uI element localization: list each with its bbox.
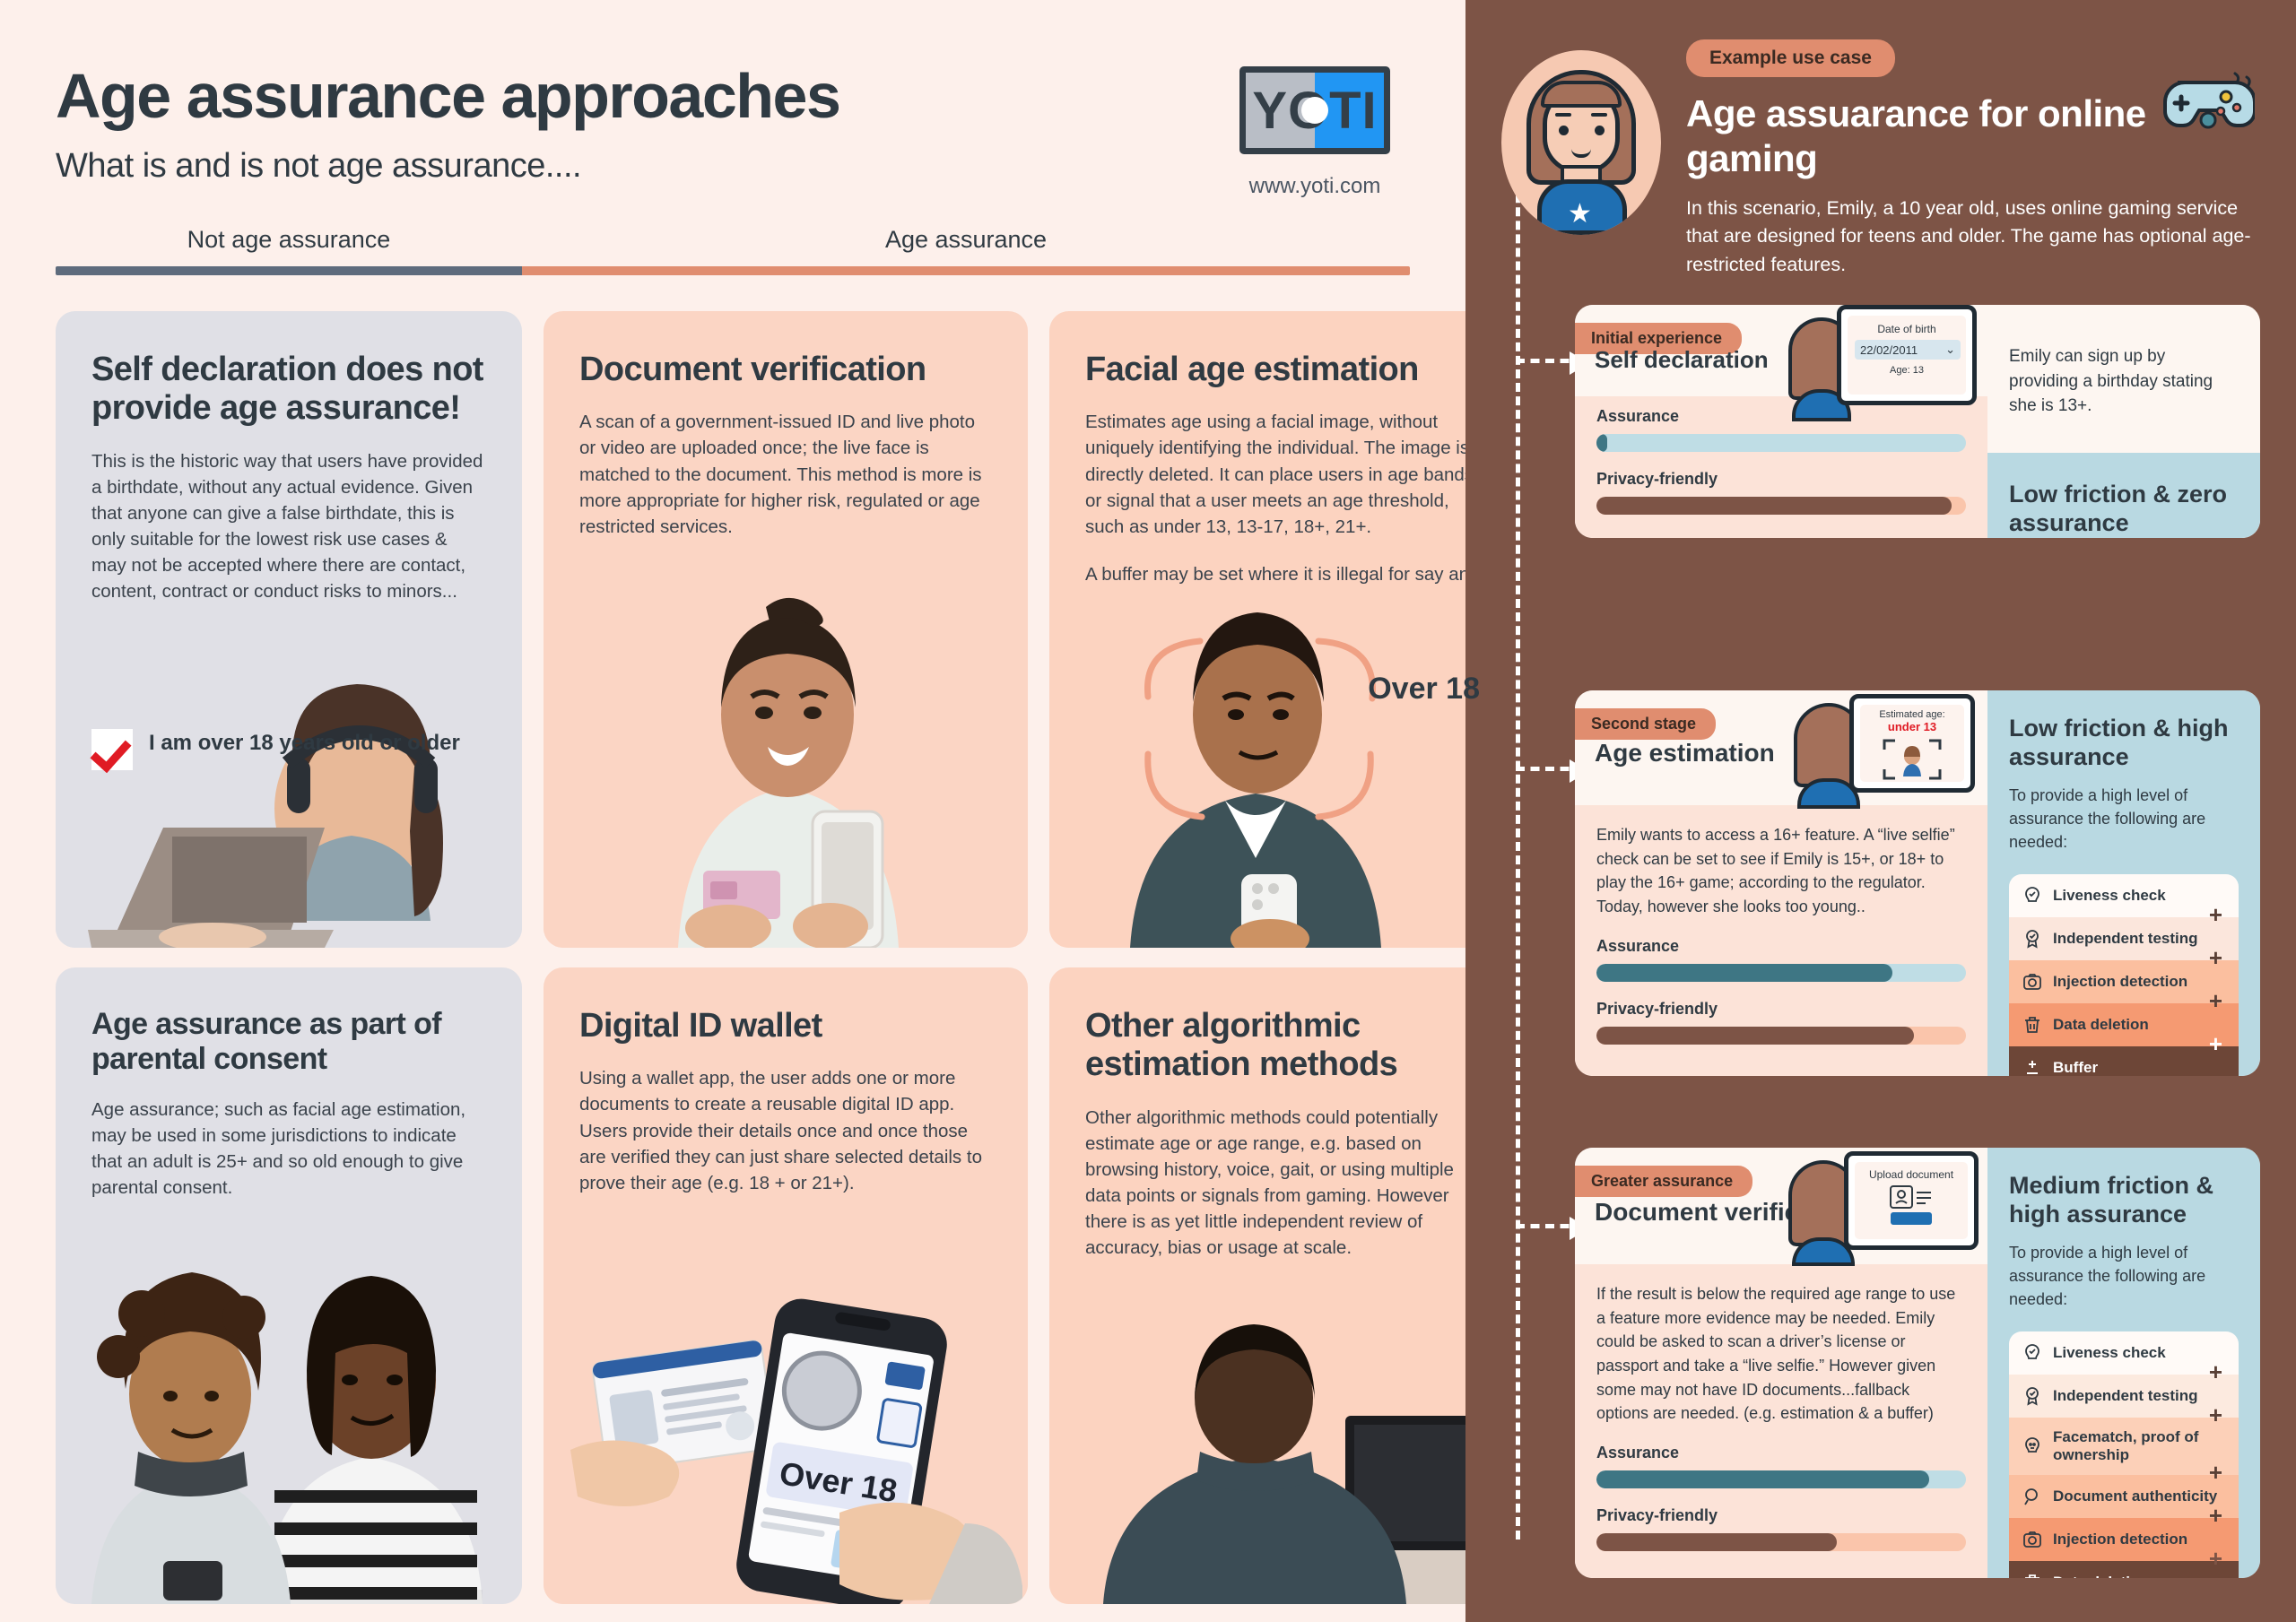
assurance-bar-track — [1596, 1470, 1966, 1488]
dob-value: 22/02/2011 — [1860, 343, 1918, 357]
avatar-brow-left — [1555, 113, 1571, 117]
assurance-scale: Not age assurance Age assurance — [56, 226, 1410, 275]
photo-child-laptop — [56, 652, 522, 948]
requirement-row[interactable]: Injection detection + — [2009, 960, 2239, 1003]
requirement-row[interactable]: Independent testing + — [2009, 917, 2239, 960]
brand-block: YOTI www.yoti.com — [1239, 56, 1410, 199]
plus-icon: + — [2209, 1502, 2222, 1530]
requirement-label: Injection detection — [2053, 973, 2187, 991]
requirement-label: Facematch, proof of ownership — [2053, 1428, 2226, 1464]
photo-hand-with-id-and-phone: Over 18 — [544, 1227, 1028, 1604]
card-title: Self declaration does not provide age as… — [91, 351, 486, 429]
stage-metrics: Emily wants to access a 16+ feature. A “… — [1575, 805, 1987, 1076]
card-self-declaration: Self declaration does not provide age as… — [56, 311, 522, 948]
stage-badge: Greater assurance — [1575, 1166, 1752, 1197]
privacy-label: Privacy-friendly — [1596, 1000, 1966, 1019]
stage-verdict: Low friction & zero assurance — [2009, 480, 2239, 538]
use-case-description: In this scenario, Emily, a 10 year old, … — [1686, 195, 2260, 279]
privacy-bar-fill — [1596, 1027, 1914, 1045]
page-title: Age assurance approaches — [56, 65, 839, 127]
requirement-label: Data deletion — [2053, 1016, 2149, 1034]
assurance-label: Assurance — [1596, 1444, 1966, 1462]
privacy-bar-track — [1596, 1027, 1966, 1045]
card-title: Other algorithmic estimation methods — [1085, 1007, 1480, 1085]
stage-verdict: Low friction & high assurance — [2009, 714, 2239, 772]
requirements-list: Liveness check + Independent testing + — [2009, 874, 2239, 1077]
over-18-label: Over 18 — [1368, 673, 1480, 706]
privacy-bar-fill — [1596, 497, 1952, 515]
requirement-row[interactable]: Buffer — [2009, 1046, 2239, 1077]
header: Age assurance approaches What is and is … — [56, 56, 1410, 199]
stage-right: Emily can sign up by providing a birthda… — [1987, 305, 2260, 538]
requirements-intro: To provide a high level of assurance the… — [2009, 1242, 2239, 1312]
card-digital-id-wallet: Digital ID wallet Using a wallet app, th… — [544, 967, 1028, 1604]
scale-labels: Not age assurance Age assurance — [56, 226, 1410, 254]
requirement-row[interactable]: Independent testing + — [2009, 1375, 2239, 1418]
plus-icon: + — [2209, 944, 2222, 972]
card-title: Facial age estimation — [1085, 351, 1480, 389]
infographic-page: Age assurance approaches What is and is … — [0, 0, 2296, 1622]
card-parental-consent: Age assurance as part of parental consen… — [56, 967, 522, 1604]
scale-label-age-assurance: Age assurance — [522, 226, 1410, 254]
stage-right: Low friction & high assurance To provide… — [1987, 690, 2260, 1076]
privacy-bar-track — [1596, 1533, 1966, 1551]
card-title: Digital ID wallet — [579, 1007, 992, 1045]
stage-left: Greater assurance Document verification … — [1575, 1148, 1987, 1578]
requirements-intro: To provide a high level of assurance the… — [2009, 785, 2239, 854]
star-icon: ★ — [1568, 198, 1592, 230]
avatar-fringe — [1541, 81, 1622, 108]
illustration-self-declaration: Date of birth 22/02/2011 ⌄ Age: 13 — [1779, 305, 1998, 420]
use-case-header: ★ Example use case Age assuarance for on… — [1501, 39, 2260, 279]
photo-woman-scanning-id — [544, 571, 1028, 948]
use-case-text: Example use case Age assuarance for onli… — [1686, 39, 2260, 279]
monitor-screen: Estimated age: under 13 — [1849, 694, 1975, 793]
scale-label-not-age-assurance: Not age assurance — [56, 226, 522, 254]
scale-bar-segment-orange — [522, 266, 1410, 275]
checkbox-label: I am over 18 years old or older — [149, 729, 460, 770]
trash-icon — [2022, 1572, 2043, 1579]
stage-verdict: Medium friction & high assurance — [2009, 1171, 2239, 1229]
stage-note: Emily wants to access a 16+ feature. A “… — [1596, 823, 1966, 919]
requirement-label: Document authenticity — [2053, 1488, 2217, 1505]
avatar-eye-left — [1559, 126, 1569, 135]
yoti-logo: YOTI — [1239, 66, 1390, 154]
camera-icon — [2022, 1529, 2043, 1550]
stage-top: Initial experience Self declaration Date… — [1575, 305, 1987, 396]
card-body: This is the historic way that users have… — [91, 448, 486, 605]
upload-button[interactable] — [1891, 1212, 1932, 1225]
flow-arrow-stage-2 — [1516, 767, 1584, 771]
monitor-screen: Date of birth 22/02/2011 ⌄ Age: 13 — [1837, 305, 1977, 405]
checkmark-icon[interactable] — [91, 729, 133, 770]
requirement-row[interactable]: Liveness check + — [2009, 1331, 2239, 1375]
assurance-bar-fill — [1596, 1470, 1929, 1488]
stage-card-document-verification: Greater assurance Document verification … — [1575, 1148, 2260, 1578]
card-body-para-1: Estimates age using a facial image, with… — [1085, 409, 1480, 540]
stage-verdict-wrap: Low friction & zero assurance — [1987, 453, 2260, 538]
card-body: Age assurance; such as facial age estima… — [91, 1097, 486, 1201]
card-facial-age-estimation: Facial age estimation Estimates age usin… — [1049, 311, 1516, 948]
requirement-label: Independent testing — [2053, 930, 2198, 948]
scale-bar-segment-grey — [56, 266, 522, 275]
dob-input[interactable]: 22/02/2011 ⌄ — [1855, 340, 1961, 360]
avatar-eye-right — [1595, 126, 1605, 135]
plus-icon: + — [2209, 901, 2222, 929]
plus-icon: + — [2209, 1030, 2222, 1058]
stage-left: Initial experience Self declaration Date… — [1575, 305, 1987, 538]
page-subtitle: What is and is not age assurance.... — [56, 147, 839, 186]
assurance-bar-track — [1596, 434, 1966, 452]
avatar-brow-right — [1591, 113, 1607, 117]
requirement-row[interactable]: Facematch, proof of ownership + — [2009, 1418, 2239, 1475]
logo-o-dot — [1301, 97, 1328, 124]
card-body: A scan of a government-issued ID and liv… — [579, 409, 992, 540]
chevron-down-icon[interactable]: ⌄ — [1945, 343, 1955, 357]
face-icon — [2022, 1436, 2043, 1457]
flow-arrow-stage-3 — [1516, 1224, 1584, 1228]
stage-name: Self declaration — [1595, 346, 1769, 373]
requirement-row[interactable]: Injection detection + — [2009, 1518, 2239, 1561]
card-title: Age assurance as part of parental consen… — [91, 1007, 486, 1077]
monitor-inner: Date of birth 22/02/2011 ⌄ Age: 13 — [1848, 316, 1966, 395]
requirement-label: Injection detection — [2053, 1531, 2187, 1548]
stage-card-self-declaration: Initial experience Self declaration Date… — [1575, 305, 2260, 538]
privacy-bar-fill — [1596, 1533, 1837, 1551]
liveness-icon — [2022, 885, 2043, 906]
requirement-label: Buffer — [2053, 1059, 2098, 1077]
monitor-inner: Estimated age: under 13 — [1860, 705, 1964, 782]
plus-icon: + — [2209, 1545, 2222, 1573]
computed-age: Age: 13 — [1855, 365, 1959, 376]
card-other-algorithmic: Other algorithmic estimation methods Oth… — [1049, 967, 1516, 1604]
requirement-label: Liveness check — [2053, 1344, 2166, 1362]
scale-bar — [56, 266, 1410, 275]
requirement-row[interactable]: Liveness check + — [2009, 874, 2239, 917]
plus-icon: + — [2209, 1358, 2222, 1386]
monitor-screen: Upload document — [1844, 1151, 1979, 1250]
trash-icon — [2022, 1014, 2043, 1036]
requirement-row[interactable]: Data deletion + — [2009, 1003, 2239, 1046]
monitor-inner: Upload document — [1855, 1162, 1968, 1239]
stage-note: Emily can sign up by providing a birthda… — [2009, 328, 2239, 419]
badge-check-icon — [2022, 1385, 2043, 1407]
dob-field-label: Date of birth — [1855, 323, 1959, 335]
assurance-bar-fill — [1596, 964, 1892, 982]
website-url[interactable]: www.yoti.com — [1239, 174, 1390, 199]
card-body: Other algorithmic methods could potentia… — [1085, 1105, 1480, 1262]
assurance-label: Assurance — [1596, 937, 1966, 956]
stage-badge: Second stage — [1575, 708, 1716, 740]
stage-name: Age estimation — [1595, 739, 1775, 768]
self-declaration-checkbox-row[interactable]: I am over 18 years old or older — [91, 729, 460, 770]
stage-top: Second stage Age estimation Estimated ag… — [1575, 690, 1987, 805]
badge-check-icon — [2022, 928, 2043, 950]
stage-right: Medium friction & high assurance To prov… — [1987, 1148, 2260, 1578]
requirement-label: Independent testing — [2053, 1387, 2198, 1405]
plus-icon: + — [2209, 1401, 2222, 1429]
stage-card-age-estimation: Second stage Age estimation Estimated ag… — [1575, 690, 2260, 1076]
approach-cards-grid: Self declaration does not provide age as… — [56, 311, 1410, 1604]
plus-icon: + — [2209, 987, 2222, 1015]
stage-note: If the result is below the required age … — [1596, 1282, 1966, 1426]
estimated-age-label: Estimated age: — [1865, 709, 1960, 720]
requirements-list: Liveness check + Independent testing + — [2009, 1331, 2239, 1579]
assurance-bar-track — [1596, 964, 1966, 982]
photo-man-facial-scan — [1049, 589, 1516, 948]
requirement-label: Data deletion — [2053, 1574, 2149, 1579]
illustration-age-estimation: Estimated age: under 13 — [1781, 690, 1993, 805]
liveness-icon — [2022, 1342, 2043, 1364]
flow-dashed-line — [1516, 140, 1520, 1540]
requirement-row[interactable]: Document authenticity + — [2009, 1475, 2239, 1518]
flow-arrow-stage-1 — [1516, 359, 1584, 363]
emily-avatar: ★ — [1501, 50, 1661, 235]
photo-parent-and-teen — [56, 1227, 522, 1604]
plus-icon: + — [2209, 1459, 2222, 1487]
illustration-document-verification: Upload document — [1781, 1148, 1996, 1264]
title-block: Age assurance approaches What is and is … — [56, 56, 839, 186]
magnifier-icon — [2022, 1486, 2043, 1507]
privacy-label: Privacy-friendly — [1596, 470, 1966, 489]
requirement-label: Liveness check — [2053, 887, 2166, 905]
camera-icon — [2022, 971, 2043, 993]
privacy-label: Privacy-friendly — [1596, 1506, 1966, 1525]
card-document-verification: Document verification A scan of a govern… — [544, 311, 1028, 948]
gamepad-icon — [2158, 70, 2255, 136]
stage-left: Second stage Age estimation Estimated ag… — [1575, 690, 1987, 1076]
stage-metrics: If the result is below the required age … — [1575, 1264, 1987, 1578]
privacy-bar-track — [1596, 497, 1966, 515]
right-panel-use-case: ★ Example use case Age assuarance for on… — [1465, 0, 2296, 1622]
plus-minus-icon — [2022, 1057, 2043, 1077]
assurance-bar-fill — [1596, 434, 1607, 452]
requirement-row[interactable]: Data deletion — [2009, 1561, 2239, 1579]
estimated-age-value: under 13 — [1865, 720, 1960, 733]
document-icon — [1890, 1185, 1933, 1209]
card-title: Document verification — [579, 351, 992, 389]
use-case-badge: Example use case — [1686, 39, 1895, 77]
photo-person-at-desktop — [1049, 1317, 1516, 1604]
upload-label: Upload document — [1861, 1168, 1961, 1181]
left-panel: Age assurance approaches What is and is … — [0, 0, 1465, 1622]
stage-top: Greater assurance Document verification … — [1575, 1148, 1987, 1264]
face-scan-frame-icon — [1881, 735, 1944, 782]
card-body: Using a wallet app, the user adds one or… — [579, 1065, 992, 1196]
